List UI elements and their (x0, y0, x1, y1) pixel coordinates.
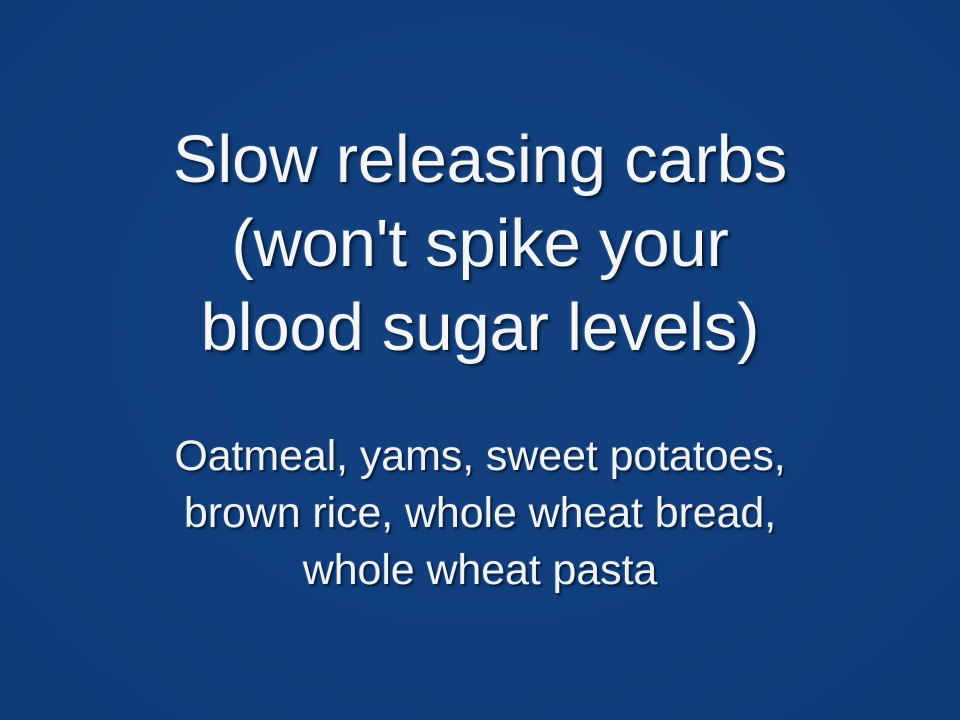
headline-line-1: Slow releasing carbs (0, 118, 960, 202)
slide-canvas: Slow releasing carbs (won't spike your b… (0, 0, 960, 720)
headline-block: Slow releasing carbs (won't spike your b… (0, 118, 960, 370)
headline-line-2: (won't spike your (0, 202, 960, 286)
headline-line-3: blood sugar levels) (0, 286, 960, 370)
subtext-line-3: whole wheat pasta (0, 542, 960, 599)
subtext-line-2: brown rice, whole wheat bread, (0, 485, 960, 542)
subtext-line-1: Oatmeal, yams, sweet potatoes, (0, 428, 960, 485)
subtext-block: Oatmeal, yams, sweet potatoes, brown ric… (0, 428, 960, 599)
